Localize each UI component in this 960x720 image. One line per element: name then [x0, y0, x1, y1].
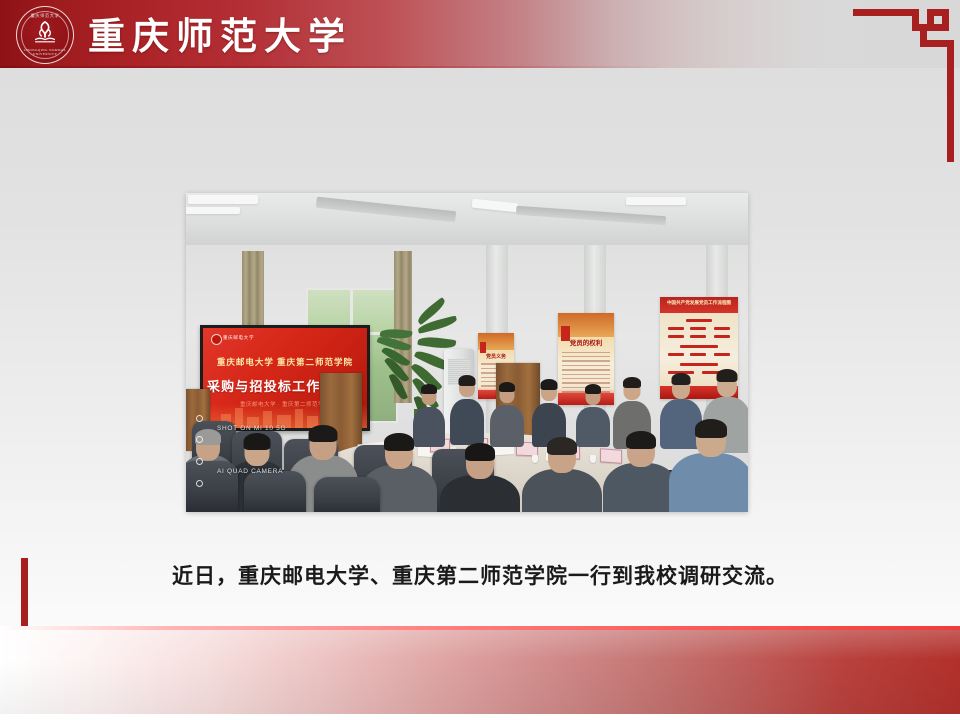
person: [534, 437, 590, 512]
ceiling-light: [188, 195, 258, 204]
person: [492, 381, 522, 445]
meeting-photo: 重庆邮电大学 重庆邮电大学 重庆第二师范学院 采购与招投标工作交流会 重庆邮电大…: [186, 193, 748, 512]
screen-logo-icon: [211, 334, 222, 345]
person: [452, 443, 508, 512]
office-chair: [314, 477, 380, 512]
camera-lens-icon: [196, 451, 212, 494]
corner-ornament-top-right-icon: [852, 0, 960, 165]
person: [452, 375, 482, 443]
footer-bottom-strip: [0, 714, 960, 720]
slide-caption: 近日，重庆邮电大学、重庆第二师范学院一行到我校调研交流。: [0, 560, 960, 590]
presentation-slide: 重庆师范大学 CHONGQING NORMAL UNIVERSITY 重庆师范大…: [0, 0, 960, 720]
footer-band-shading: [0, 630, 960, 714]
ceiling-light: [626, 197, 686, 205]
wall-poster-title: 党员义务: [478, 353, 514, 360]
drink-cup: [590, 455, 596, 463]
person: [614, 431, 668, 512]
camera-watermark: SHOT ON MI 10 5G AI QUAD CAMERA: [196, 408, 286, 494]
wall-poster-title: 党员的权利: [558, 337, 614, 347]
camera-lens-icon: [196, 408, 212, 451]
seal-bottom-text: CHONGQING NORMAL UNIVERSITY: [17, 49, 73, 56]
ceiling-light: [186, 207, 240, 214]
university-name-title: 重庆师范大学: [88, 7, 352, 59]
slide-header-band: 重庆师范大学 CHONGQING NORMAL UNIVERSITY 重庆师范大…: [0, 0, 960, 68]
seal-emblem-icon: [30, 18, 60, 48]
watermark-line-1: SHOT ON MI 10 5G: [217, 425, 286, 434]
watermark-line-2: AI QUAD CAMERA: [217, 468, 283, 477]
person: [682, 419, 740, 512]
screen-logo-text: 重庆邮电大学: [223, 335, 254, 341]
university-seal-icon: 重庆师范大学 CHONGQING NORMAL UNIVERSITY: [16, 6, 74, 64]
person: [372, 433, 426, 512]
person: [534, 379, 564, 445]
person: [578, 383, 608, 445]
meeting-photo-content: 重庆邮电大学 重庆邮电大学 重庆第二师范学院 采购与招投标工作交流会 重庆邮电大…: [186, 193, 748, 512]
wall-poster-title: 中国共产党发展党员工作流程图: [660, 300, 738, 306]
screen-headline-1: 重庆邮电大学 重庆第二师范学院: [203, 356, 367, 368]
